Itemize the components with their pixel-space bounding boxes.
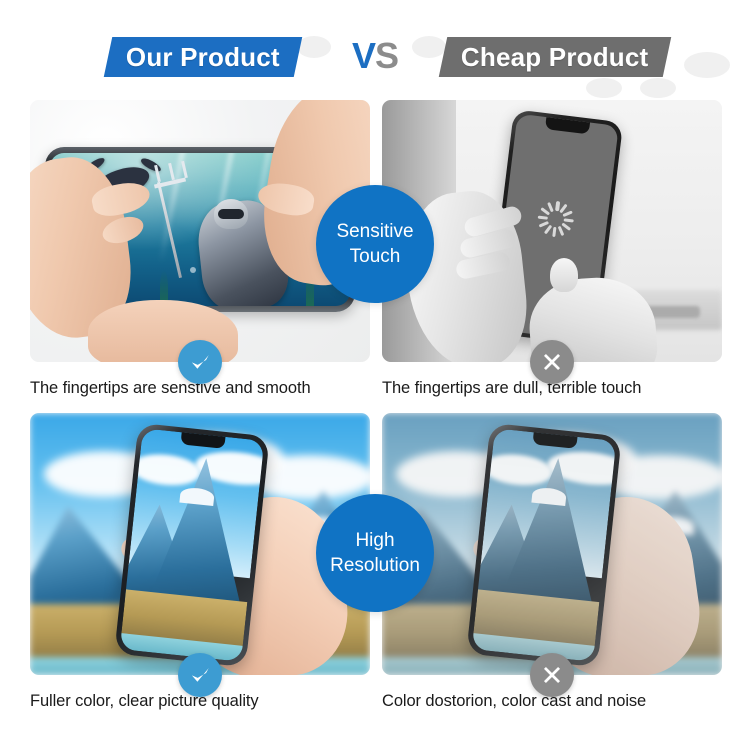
vs-label: VS: [352, 32, 398, 80]
landscape-sharp: [120, 428, 265, 662]
badge-line-2: Resolution: [330, 553, 420, 578]
our-product-banner: Our Product: [104, 37, 302, 77]
phone-portrait: [466, 423, 622, 668]
check-icon: [187, 349, 213, 375]
cheap-product-label: Cheap Product: [461, 42, 649, 73]
bubble: [190, 267, 196, 273]
comparison-header: Our Product VS Cheap Product: [0, 0, 750, 100]
cheap-product-banner: Cheap Product: [439, 37, 671, 77]
phone-screen-landscape-sharp: [120, 428, 265, 662]
character-visor: [218, 209, 244, 219]
feature-badge-sensitive-touch: Sensitive Touch: [316, 185, 434, 303]
verdict-check-good-touch: [178, 340, 222, 384]
badge-line-1: High: [355, 528, 394, 553]
landscape-dull: [472, 428, 617, 662]
badge-line-1: Sensitive: [336, 219, 413, 244]
feature-badge-high-resolution: High Resolution: [316, 494, 434, 612]
trident-prong: [168, 163, 175, 180]
tapping-fingertip: [550, 258, 578, 292]
trident-prong: [181, 161, 188, 178]
verdict-cross-bad-resolution: [530, 653, 574, 697]
vs-letter-s: S: [375, 35, 398, 76]
badge-line-2: Touch: [350, 244, 401, 269]
trident-shaft: [157, 182, 182, 278]
cross-icon: [539, 662, 565, 688]
phone-screen-landscape-dull: [472, 428, 617, 662]
vs-letter-v: V: [352, 35, 375, 76]
phone-notch: [545, 117, 590, 134]
photo-loading-phone: [382, 100, 722, 362]
our-product-label: Our Product: [126, 42, 280, 73]
loading-spinner-icon: [536, 199, 576, 239]
verdict-check-good-resolution: [178, 653, 222, 697]
cross-icon: [539, 349, 565, 375]
check-icon: [187, 662, 213, 688]
verdict-cross-bad-touch: [530, 340, 574, 384]
phone-portrait: [114, 423, 270, 668]
